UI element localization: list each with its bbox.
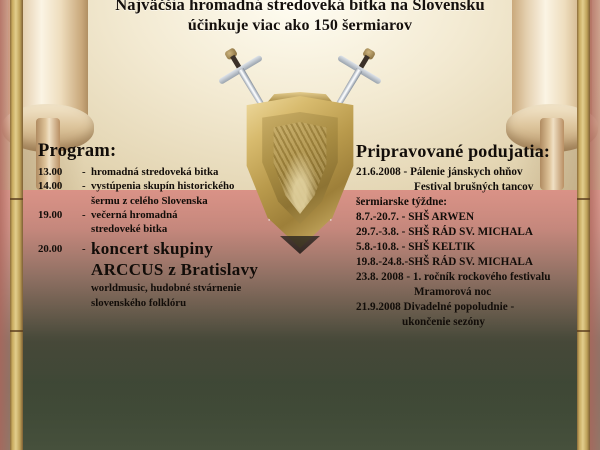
program-item-dash: - — [82, 165, 91, 179]
program-item-dash: - — [82, 208, 91, 222]
headline-banner: Najväčšia hromadná stredoveká bitka na S… — [0, 0, 600, 36]
upcoming-row: 19.8.-24.8.-SHŠ RÁD SV. MICHALA — [356, 255, 588, 270]
upcoming-row: šermiarske týždne: — [356, 195, 588, 210]
program-item: 13.00 - hromadná stredoveká bitka — [38, 165, 278, 179]
program-item: 19.00 - večerná hromadná — [38, 208, 278, 222]
upcoming-row: Mramorová noc — [356, 285, 588, 300]
gold-frame-right — [570, 0, 600, 450]
upcoming-events-column: Pripravované podujatia: 21.6.2008 - Pále… — [356, 140, 588, 330]
feature-note-1: worldmusic, hudobné stvárnenie — [38, 281, 278, 295]
upcoming-row: 8.7.-20.7. - SHŠ ARWEN — [356, 210, 588, 225]
upcoming-row: 21.9.2008 Divadelné popoludnie - — [356, 300, 588, 315]
upcoming-row: 5.8.-10.8. - SHŠ KELTIK — [356, 240, 588, 255]
upcoming-row: Festival brušných tancov — [356, 180, 588, 195]
upcoming-heading: Pripravované podujatia: — [356, 140, 588, 162]
upcoming-row: 21.6.2008 - Pálenie jánskych ohňov — [356, 165, 588, 180]
program-item-text: vystúpenia skupín historického — [91, 179, 278, 193]
program-item-text: hromadná stredoveká bitka — [91, 165, 278, 179]
feature-note-2: slovenského folklóru — [38, 296, 278, 310]
headline-line-1: Najväčšia hromadná stredoveká bitka na S… — [0, 0, 600, 15]
program-heading: Program: — [38, 140, 278, 162]
feature-time: 20.00 — [38, 238, 82, 260]
upcoming-row: ukončenie sezóny — [356, 315, 588, 330]
gold-frame-left — [0, 0, 30, 450]
program-item-continuation: šermu z celého Slovenska — [38, 194, 278, 208]
feature-line-1: koncert skupiny — [91, 238, 278, 259]
feature-dash: - — [82, 238, 91, 260]
program-item-time: 13.00 — [38, 165, 82, 179]
feature-line-2: ARCCUS z Bratislavy — [91, 259, 278, 280]
program-item-continuation: stredoveké bitka — [38, 222, 278, 236]
shield-tip-shadow — [280, 236, 320, 254]
program-item-time: 19.00 — [38, 208, 82, 222]
program-feature-item: 20.00 - koncert skupiny ARCCUS z Bratisl… — [38, 238, 278, 280]
program-item-time: 14.00 — [38, 179, 82, 193]
program-item-text: večerná hromadná — [91, 208, 278, 222]
poster-root: Najväčšia hromadná stredoveká bitka na S… — [0, 0, 600, 450]
headline-line-2: účinkuje viac ako 150 šermiarov — [0, 15, 600, 36]
program-item: 14.00 - vystúpenia skupín historického — [38, 179, 278, 193]
program-item-dash: - — [82, 179, 91, 193]
upcoming-row: 23.8. 2008 - 1. ročník rockového festiva… — [356, 270, 588, 285]
program-column: Program: 13.00 - hromadná stredoveká bit… — [38, 140, 278, 310]
upcoming-row: 29.7.-3.8. - SHŠ RÁD SV. MICHALA — [356, 225, 588, 240]
